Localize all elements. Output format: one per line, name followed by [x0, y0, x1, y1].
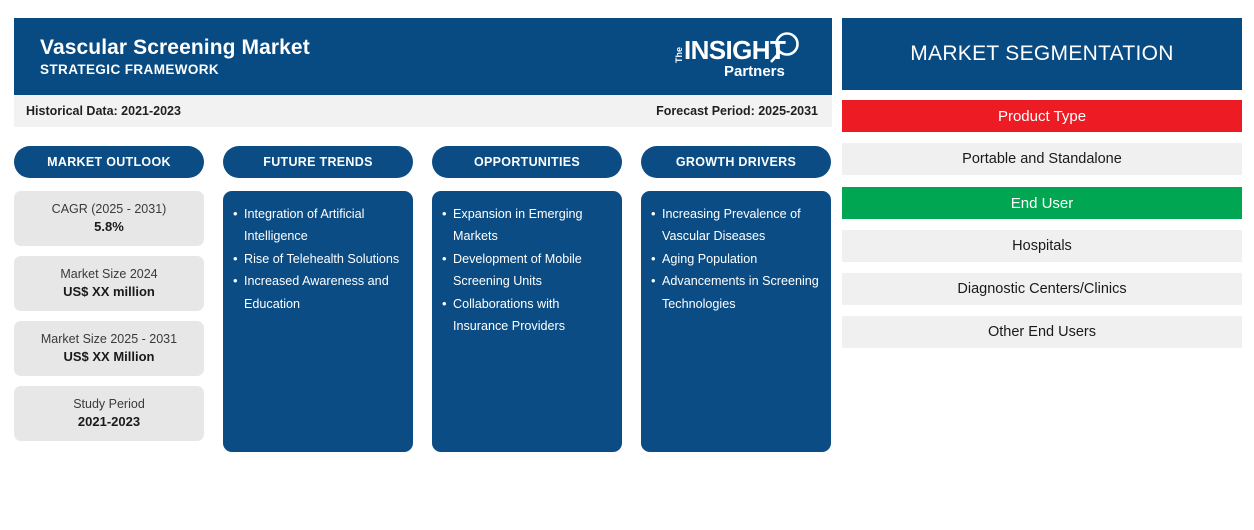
column-market-outlook: MARKET OUTLOOK CAGR (2025 - 2031) 5.8% M…	[14, 146, 204, 452]
data-strip: Historical Data: 2021-2023 Forecast Peri…	[14, 95, 832, 127]
list-item: Advancements in Screening Technologies	[651, 270, 821, 315]
market-segmentation-panel: MARKET SEGMENTATION Product Type Portabl…	[842, 18, 1242, 348]
column-opportunities: OPPORTUNITIES Expansion in Emerging Mark…	[432, 146, 622, 452]
list-item: Increasing Prevalence of Vascular Diseas…	[651, 203, 821, 248]
growth-drivers-box: Increasing Prevalence of Vascular Diseas…	[641, 191, 831, 452]
segment-item: Diagnostic Centers/Clinics	[842, 273, 1242, 305]
stat-tile-cagr: CAGR (2025 - 2031) 5.8%	[14, 191, 204, 246]
stat-tile-value: 2021-2023	[78, 413, 140, 431]
stat-tile-market-size-forecast: Market Size 2025 - 2031 US$ XX Million	[14, 321, 204, 376]
svg-text:The: The	[674, 46, 684, 62]
list-item: Expansion in Emerging Markets	[442, 203, 612, 248]
page-subtitle: STRATEGIC FRAMEWORK	[40, 62, 310, 77]
column-heading-future-trends: FUTURE TRENDS	[223, 146, 413, 178]
stat-tile-market-size-2024: Market Size 2024 US$ XX million	[14, 256, 204, 311]
column-heading-opportunities: OPPORTUNITIES	[432, 146, 622, 178]
segment-category-end-user: End User	[842, 187, 1242, 219]
header-band: Vascular Screening Market STRATEGIC FRAM…	[14, 18, 832, 95]
segment-item: Portable and Standalone	[842, 143, 1242, 175]
list-item: Integration of Artificial Intelligence	[233, 203, 403, 248]
insight-partners-logo: The INSIGHT Partners	[666, 31, 816, 83]
historical-data-label: Historical Data: 2021-2023	[26, 104, 181, 118]
segmentation-group-product-type: Product Type Portable and Standalone	[842, 100, 1242, 175]
segment-item: Hospitals	[842, 230, 1242, 262]
future-trends-list: Integration of Artificial Intelligence R…	[233, 203, 403, 315]
strategic-framework-panel: Vascular Screening Market STRATEGIC FRAM…	[14, 18, 832, 452]
column-growth-drivers: GROWTH DRIVERS Increasing Prevalence of …	[641, 146, 831, 452]
forecast-period-label: Forecast Period: 2025-2031	[656, 104, 818, 118]
segmentation-title: MARKET SEGMENTATION	[842, 18, 1242, 90]
stat-tile-label: Market Size 2025 - 2031	[41, 331, 177, 348]
stat-tile-value: 5.8%	[94, 218, 124, 236]
column-future-trends: FUTURE TRENDS Integration of Artificial …	[223, 146, 413, 452]
market-outlook-tiles: CAGR (2025 - 2031) 5.8% Market Size 2024…	[14, 191, 204, 441]
stat-tile-label: CAGR (2025 - 2031)	[52, 201, 167, 218]
future-trends-box: Integration of Artificial Intelligence R…	[223, 191, 413, 452]
stat-tile-value: US$ XX million	[63, 283, 155, 301]
list-item: Rise of Telehealth Solutions	[233, 248, 403, 270]
svg-text:INSIGHT: INSIGHT	[684, 35, 786, 65]
column-heading-growth-drivers: GROWTH DRIVERS	[641, 146, 831, 178]
stat-tile-study-period: Study Period 2021-2023	[14, 386, 204, 441]
stat-tile-value: US$ XX Million	[63, 348, 154, 366]
infographic-page: Vascular Screening Market STRATEGIC FRAM…	[0, 0, 1254, 530]
header-titles: Vascular Screening Market STRATEGIC FRAM…	[40, 36, 310, 77]
opportunities-list: Expansion in Emerging Markets Developmen…	[442, 203, 612, 337]
stat-tile-label: Market Size 2024	[60, 266, 157, 283]
svg-text:Partners: Partners	[724, 63, 785, 80]
list-item: Aging Population	[651, 248, 821, 270]
growth-drivers-list: Increasing Prevalence of Vascular Diseas…	[651, 203, 821, 315]
page-title: Vascular Screening Market	[40, 36, 310, 60]
framework-columns: MARKET OUTLOOK CAGR (2025 - 2031) 5.8% M…	[14, 146, 832, 452]
list-item: Development of Mobile Screening Units	[442, 248, 612, 293]
stat-tile-label: Study Period	[73, 396, 145, 413]
list-item: Collaborations with Insurance Providers	[442, 293, 612, 338]
segmentation-group-end-user: End User Hospitals Diagnostic Centers/Cl…	[842, 187, 1242, 348]
list-item: Increased Awareness and Education	[233, 270, 403, 315]
segment-item: Other End Users	[842, 316, 1242, 348]
opportunities-box: Expansion in Emerging Markets Developmen…	[432, 191, 622, 452]
segment-category-product-type: Product Type	[842, 100, 1242, 132]
column-heading-market-outlook: MARKET OUTLOOK	[14, 146, 204, 178]
